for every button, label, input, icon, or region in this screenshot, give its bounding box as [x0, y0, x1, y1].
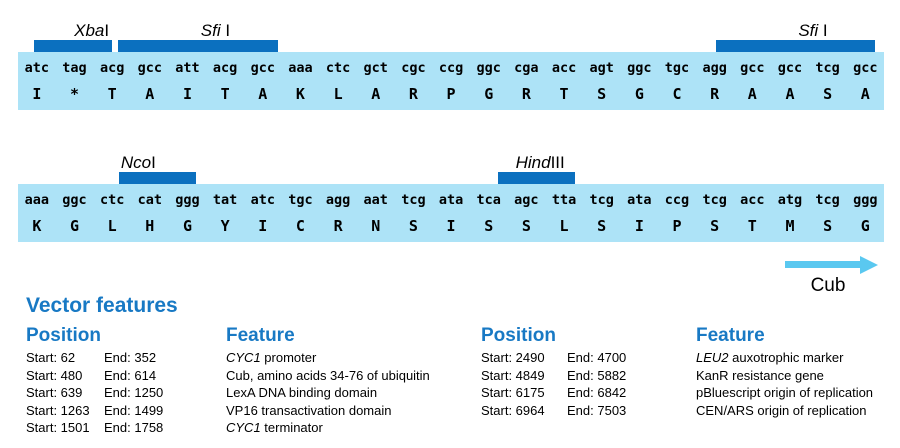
amino-acid: I	[621, 213, 659, 239]
codon: tcg	[395, 187, 433, 213]
codon: ggc	[621, 55, 659, 81]
position-start: Start: 1263	[26, 402, 104, 420]
feature-row: CYC1 terminator	[226, 419, 481, 437]
position-end: End: 1758	[104, 419, 163, 437]
position-start: Start: 1501	[26, 419, 104, 437]
codon: cgc	[395, 55, 433, 81]
feature-gene-name: LEU2	[696, 350, 729, 365]
position-end: End: 6842	[567, 384, 626, 402]
position-column-right: Position Start: 2490End: 4700Start: 4849…	[481, 324, 696, 437]
amino-acid: S	[583, 81, 621, 107]
feature-row: LEU2 auxotrophic marker	[696, 349, 881, 367]
feature-row: CEN/ARS origin of replication	[696, 402, 881, 420]
position-end: End: 614	[104, 367, 156, 385]
amino-acid: G	[621, 81, 659, 107]
amino-acid: T	[93, 81, 131, 107]
enzyme-name-italic: Sfi	[798, 21, 818, 40]
sequence-map-row-2: NcoIHindIII aaaggcctccatgggtatatctgcagga…	[18, 146, 884, 242]
codon: ata	[621, 187, 659, 213]
feature-row: Cub, amino acids 34-76 of ubiquitin	[226, 367, 481, 385]
codon: atc	[244, 187, 282, 213]
codon: tca	[470, 187, 508, 213]
feature-description: terminator	[261, 420, 323, 435]
amino-acid: A	[131, 81, 169, 107]
position-column-header-right: Position	[481, 324, 696, 348]
codon: agg	[319, 187, 357, 213]
amino-acid: M	[771, 213, 809, 239]
arrow-head	[860, 256, 878, 274]
position-row: Start: 6175End: 6842	[481, 384, 696, 402]
amino-acid: C	[282, 213, 320, 239]
position-row: Start: 2490End: 4700	[481, 349, 696, 367]
feature-description: LexA DNA binding domain	[226, 385, 377, 400]
sequence-map-row-1: XbaISfi ISfi I atctagacggccattacggccaaac…	[18, 14, 884, 110]
enzyme-label-layer-row-1: XbaISfi ISfi I	[18, 14, 884, 40]
enzyme-label-xbai: XbaI	[74, 22, 109, 40]
codon: agg	[696, 55, 734, 81]
amino-acid: L	[319, 81, 357, 107]
amino-acid: S	[809, 213, 847, 239]
feature-column-header-right: Feature	[696, 324, 881, 348]
codon: tta	[545, 187, 583, 213]
codon: cat	[131, 187, 169, 213]
codon: tcg	[696, 187, 734, 213]
enzyme-label-hindiii: HindIII	[516, 154, 565, 172]
amino-acid: I	[18, 81, 56, 107]
amino-acid: *	[56, 81, 94, 107]
position-row: Start: 1263End: 1499	[26, 402, 226, 420]
feature-column-left: Feature CYC1 promoterCub, amino acids 34…	[226, 324, 481, 437]
position-row: Start: 62End: 352	[26, 349, 226, 367]
enzyme-numeral: I	[818, 21, 827, 40]
codon: tat	[206, 187, 244, 213]
codon: acc	[545, 55, 583, 81]
feature-column-header-left: Feature	[226, 324, 481, 348]
amino-acid: K	[18, 213, 56, 239]
amino-acid: S	[508, 213, 546, 239]
feature-row: VP16 transactivation domain	[226, 402, 481, 420]
amino-acid: A	[357, 81, 395, 107]
amino-acid: S	[395, 213, 433, 239]
amino-acid: G	[169, 213, 207, 239]
feature-description: Cub, amino acids 34-76 of ubiquitin	[226, 368, 430, 383]
position-start: Start: 480	[26, 367, 104, 385]
feature-rows-right: LEU2 auxotrophic markerKanR resistance g…	[696, 349, 881, 419]
amino-acid: N	[357, 213, 395, 239]
codon: ccg	[658, 187, 696, 213]
position-rows-right: Start: 2490End: 4700Start: 4849End: 5882…	[481, 349, 696, 419]
enzyme-numeral: I	[221, 21, 230, 40]
codon: cga	[508, 55, 546, 81]
codon: aat	[357, 187, 395, 213]
codon: agc	[508, 187, 546, 213]
codon: ccg	[432, 55, 470, 81]
amino-acid: H	[131, 213, 169, 239]
codon: acc	[733, 187, 771, 213]
amino-acid: P	[432, 81, 470, 107]
feature-row: KanR resistance gene	[696, 367, 881, 385]
amino-acid: A	[733, 81, 771, 107]
amino-acid: L	[545, 213, 583, 239]
amino-acid: I	[169, 81, 207, 107]
codon: aaa	[282, 55, 320, 81]
feature-description: auxotrophic marker	[729, 350, 844, 365]
amino-acid: G	[56, 213, 94, 239]
codon: ctc	[319, 55, 357, 81]
amino-acid: G	[470, 81, 508, 107]
position-end: End: 5882	[567, 367, 626, 385]
position-end: End: 4700	[567, 349, 626, 367]
arrow-shaft	[785, 261, 863, 268]
position-end: End: 7503	[567, 402, 626, 420]
position-start: Start: 6964	[481, 402, 567, 420]
position-rows-left: Start: 62End: 352Start: 480End: 614Start…	[26, 349, 226, 437]
amino-acid: S	[809, 81, 847, 107]
position-start: Start: 2490	[481, 349, 567, 367]
codon: atg	[771, 187, 809, 213]
codon: tcg	[809, 55, 847, 81]
enzyme-name-italic: Sfi	[201, 21, 221, 40]
cub-arrow-icon	[780, 256, 890, 274]
codon: ctc	[93, 187, 131, 213]
feature-gene-name: CYC1	[226, 420, 261, 435]
position-end: End: 1499	[104, 402, 163, 420]
amino-acid: A	[771, 81, 809, 107]
feature-gene-name: CYC1	[226, 350, 261, 365]
restriction-site-bar-layer-row-2	[18, 172, 884, 184]
amino-acid: I	[432, 213, 470, 239]
codon: ggg	[846, 187, 884, 213]
feature-row: CYC1 promoter	[226, 349, 481, 367]
codon: ggc	[56, 187, 94, 213]
amino-acid: C	[658, 81, 696, 107]
amino-acid: T	[545, 81, 583, 107]
amino-acid: P	[658, 213, 696, 239]
feature-description: VP16 transactivation domain	[226, 403, 391, 418]
codon: tgc	[658, 55, 696, 81]
position-column-left: Position Start: 62End: 352Start: 480End:…	[26, 324, 226, 437]
amino-acid: A	[846, 81, 884, 107]
codon-track-row-1: atctagacggccattacggccaaactcgctcgcccgggcc…	[18, 55, 884, 81]
position-start: Start: 6175	[481, 384, 567, 402]
codon: ggg	[169, 187, 207, 213]
position-end: End: 1250	[104, 384, 163, 402]
restriction-site-bar-ncoi	[119, 172, 196, 184]
amino-acid: R	[696, 81, 734, 107]
position-row: Start: 1501End: 1758	[26, 419, 226, 437]
codon: ata	[432, 187, 470, 213]
amino-acid: G	[846, 213, 884, 239]
sequence-band-row-2: aaaggcctccatgggtatatctgcaggaattcgatatcaa…	[18, 184, 884, 242]
enzyme-name-italic: Nco	[121, 153, 151, 172]
vector-features-section: Vector features Position Start: 62End: 3…	[26, 294, 886, 437]
enzyme-label-sfii: Sfi I	[798, 22, 827, 40]
amino-acid: Y	[206, 213, 244, 239]
feature-row: pBluescript origin of replication	[696, 384, 881, 402]
vector-features-title: Vector features	[26, 294, 886, 318]
codon-track-row-2: aaaggcctccatgggtatatctgcaggaattcgatatcaa…	[18, 187, 884, 213]
sequence-band-row-1: atctagacggccattacggccaaactcgctcgcccgggcc…	[18, 52, 884, 110]
enzyme-numeral: III	[551, 153, 565, 172]
enzyme-label-sfii: Sfi I	[201, 22, 230, 40]
position-start: Start: 639	[26, 384, 104, 402]
enzyme-label-layer-row-2: NcoIHindIII	[18, 146, 884, 172]
amino-acid: S	[583, 213, 621, 239]
amino-acid: A	[244, 81, 282, 107]
codon: gcc	[846, 55, 884, 81]
amino-acid: I	[244, 213, 282, 239]
feature-description: pBluescript origin of replication	[696, 385, 873, 400]
codon: gcc	[131, 55, 169, 81]
codon: tgc	[282, 187, 320, 213]
feature-column-right: Feature LEU2 auxotrophic markerKanR resi…	[696, 324, 881, 437]
codon: gcc	[244, 55, 282, 81]
position-row: Start: 639End: 1250	[26, 384, 226, 402]
feature-description: promoter	[261, 350, 317, 365]
amino-acid: T	[206, 81, 244, 107]
restriction-site-bar-sfii	[118, 40, 278, 52]
amino-acid: S	[696, 213, 734, 239]
codon: gcc	[733, 55, 771, 81]
codon: att	[169, 55, 207, 81]
codon: tcg	[809, 187, 847, 213]
feature-rows-left: CYC1 promoterCub, amino acids 34-76 of u…	[226, 349, 481, 437]
feature-description: KanR resistance gene	[696, 368, 824, 383]
enzyme-numeral: I	[104, 21, 109, 40]
codon: ggc	[470, 55, 508, 81]
codon: tag	[56, 55, 94, 81]
enzyme-name-italic: Hind	[516, 153, 551, 172]
position-start: Start: 62	[26, 349, 104, 367]
restriction-site-bar-hindiii	[498, 172, 575, 184]
feature-description: CEN/ARS origin of replication	[696, 403, 867, 418]
restriction-site-bar-sfii	[716, 40, 875, 52]
amino-acid-track-row-2: KGLHGYICRNSISSLSIPSTMSG	[18, 213, 884, 239]
position-start: Start: 4849	[481, 367, 567, 385]
position-end: End: 352	[104, 349, 156, 367]
vector-features-table-right: Position Start: 2490End: 4700Start: 4849…	[481, 324, 881, 437]
codon: acg	[206, 55, 244, 81]
enzyme-name-italic: Xba	[74, 21, 104, 40]
restriction-site-bar-layer-row-1	[18, 40, 884, 52]
vector-features-table-left: Position Start: 62End: 352Start: 480End:…	[26, 324, 481, 437]
codon: gcc	[771, 55, 809, 81]
restriction-site-bar-xbai	[34, 40, 112, 52]
codon: tcg	[583, 187, 621, 213]
codon: aaa	[18, 187, 56, 213]
amino-acid: L	[93, 213, 131, 239]
codon: agt	[583, 55, 621, 81]
codon: atc	[18, 55, 56, 81]
amino-acid: K	[282, 81, 320, 107]
position-row: Start: 480End: 614	[26, 367, 226, 385]
enzyme-numeral: I	[151, 153, 156, 172]
amino-acid: R	[319, 213, 357, 239]
amino-acid: T	[733, 213, 771, 239]
position-column-header-left: Position	[26, 324, 226, 348]
cub-annotation: Cub	[780, 256, 890, 297]
amino-acid: R	[508, 81, 546, 107]
codon: gct	[357, 55, 395, 81]
codon: acg	[93, 55, 131, 81]
amino-acid: R	[395, 81, 433, 107]
amino-acid: S	[470, 213, 508, 239]
vector-features-columns: Position Start: 62End: 352Start: 480End:…	[26, 324, 886, 437]
position-row: Start: 4849End: 5882	[481, 367, 696, 385]
enzyme-label-ncoi: NcoI	[121, 154, 156, 172]
amino-acid-track-row-1: I*TAITAKLARPGRTSGCRAASA	[18, 81, 884, 107]
position-row: Start: 6964End: 7503	[481, 402, 696, 420]
feature-row: LexA DNA binding domain	[226, 384, 481, 402]
